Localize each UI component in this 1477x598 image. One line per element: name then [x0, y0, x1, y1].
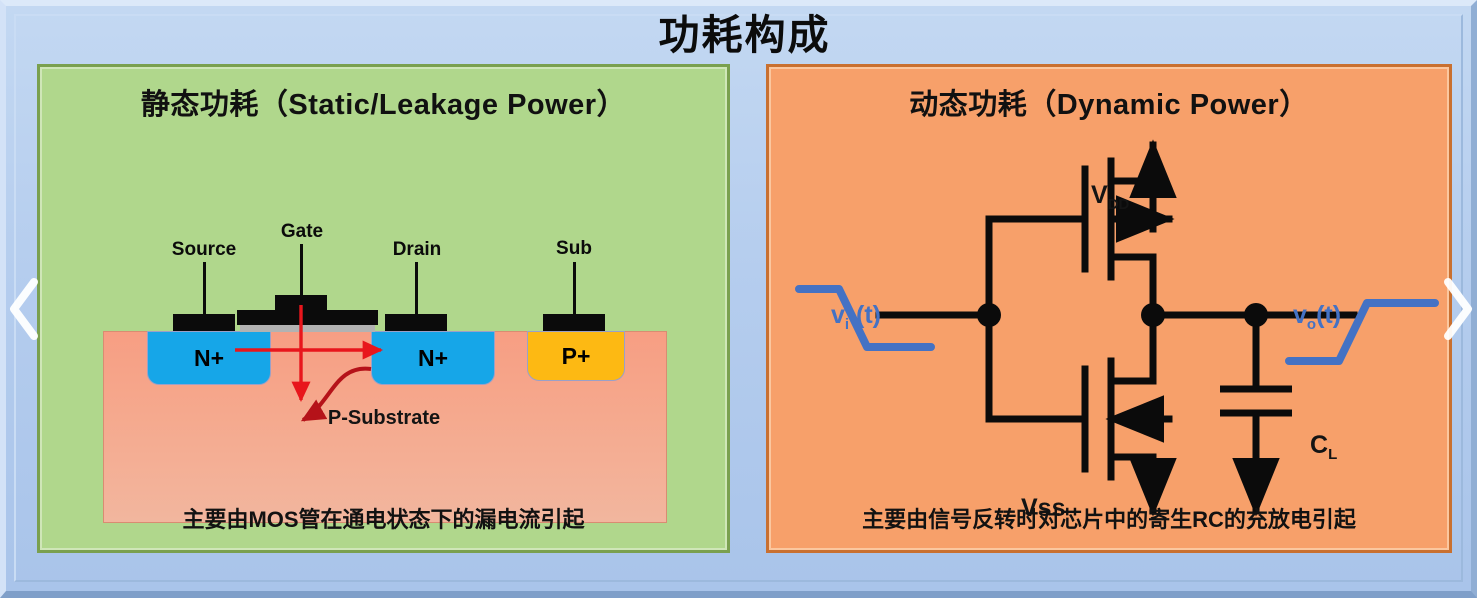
load-capacitor-label: CL: [1310, 431, 1337, 463]
vdd-label: VDD: [1091, 181, 1129, 213]
panel-right-caption: 主要由信号反转时对芯片中的寄生RC的充放电引起: [769, 502, 1449, 534]
panel-left-title: 静态功耗（Static/Leakage Power）: [40, 81, 727, 123]
terminal-label-sub: Sub: [556, 238, 592, 260]
terminal-label-drain: Drain: [393, 239, 442, 261]
cmos-inverter-diagram: VDD Vss CL vi (t) vo(t): [809, 119, 1419, 519]
leakage-current-arrows: [103, 272, 665, 522]
panel-left-caption: 主要由MOS管在通电状态下的漏电流引起: [40, 502, 727, 534]
chevron-left-icon[interactable]: [8, 276, 42, 342]
chevron-right-icon[interactable]: [1440, 276, 1474, 342]
terminal-label-source: Source: [172, 239, 236, 261]
panel-right-title: 动态功耗（Dynamic Power）: [769, 81, 1449, 123]
panel-static-power: 静态功耗（Static/Leakage Power） P-Substrate N…: [37, 64, 730, 553]
slide-canvas: 功耗构成 静态功耗（Static/Leakage Power） P-Substr…: [0, 0, 1477, 598]
input-node-dot: [977, 303, 1001, 327]
terminal-label-gate: Gate: [281, 221, 323, 243]
input-signal-label: vi (t): [831, 301, 881, 333]
panel-dynamic-power: 动态功耗（Dynamic Power）: [766, 64, 1452, 553]
page-title: 功耗构成: [6, 8, 1477, 62]
mosfet-cross-section-diagram: P-Substrate N+ N+ P+ Source Gate Drain S…: [103, 272, 665, 461]
load-node-dot: [1244, 303, 1268, 327]
output-node-dot: [1141, 303, 1165, 327]
output-signal-label: vo(t): [1293, 301, 1341, 333]
